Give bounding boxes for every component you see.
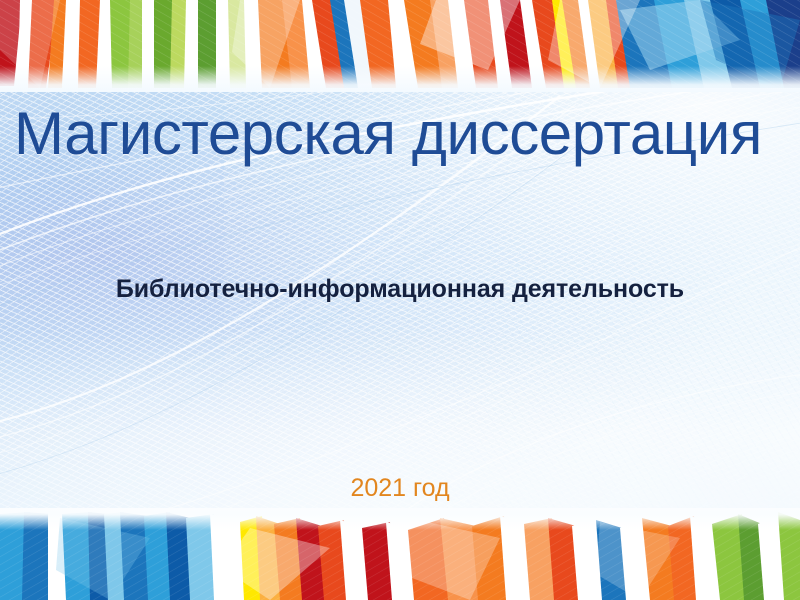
slide-title: Магистерская диссертация	[14, 104, 794, 164]
decorative-band-bottom	[0, 508, 800, 600]
geometric-shards-bottom-art	[0, 508, 800, 600]
presentation-slide: Магистерская диссертация Библиотечно-инф…	[0, 0, 800, 600]
geometric-shards-top-art	[0, 0, 800, 92]
slide-year: 2021 год	[0, 474, 800, 503]
decorative-band-top	[0, 0, 800, 92]
slide-subtitle: Библиотечно-информационная деятельность	[0, 275, 800, 304]
